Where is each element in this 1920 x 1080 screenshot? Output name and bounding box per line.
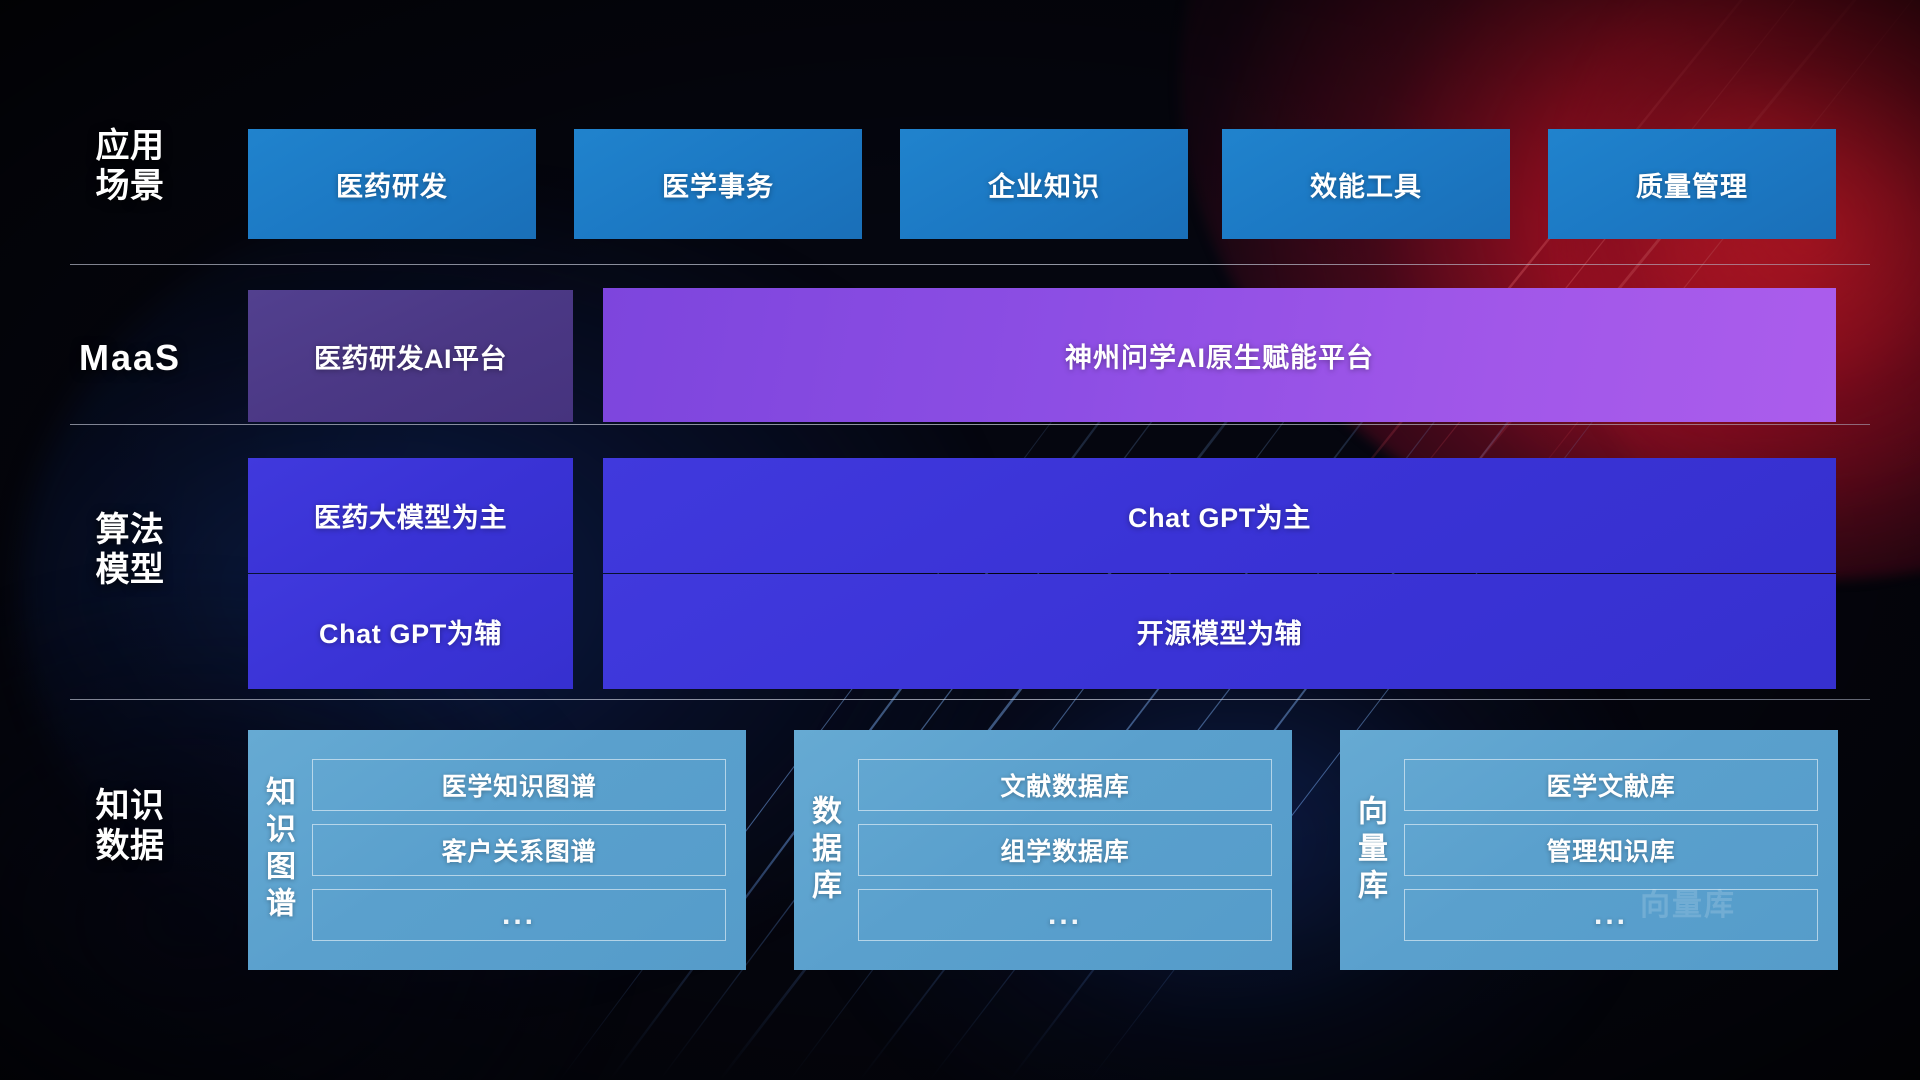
divider-3 (70, 699, 1870, 700)
knowledge-group-2-label: 向量库 (1354, 795, 1384, 906)
knowledge-group-0-label: 知识图谱 (262, 776, 292, 924)
knowledge-item[interactable]: 医学文献库 (1404, 759, 1818, 811)
knowledge-item-more[interactable]: ... (858, 889, 1272, 941)
app-card-4[interactable]: 质量管理 (1548, 129, 1836, 239)
knowledge-group-1-label: 数据库 (808, 795, 838, 906)
knowledge-group-1: 数据库 文献数据库 组学数据库 ... (794, 730, 1292, 970)
maas-card-left[interactable]: 医药研发AI平台 (248, 290, 573, 422)
algo-card-top-right[interactable]: Chat GPT为主 (603, 458, 1836, 573)
knowledge-item[interactable]: 医学知识图谱 (312, 759, 726, 811)
maas-card-right[interactable]: 神州问学AI原生赋能平台 (603, 288, 1836, 422)
knowledge-item-more[interactable]: ... (1404, 889, 1818, 941)
knowledge-item[interactable]: 文献数据库 (858, 759, 1272, 811)
knowledge-group-2-items: 医学文献库 管理知识库 ... (1404, 759, 1818, 941)
knowledge-item[interactable]: 客户关系图谱 (312, 824, 726, 876)
knowledge-item[interactable]: 组学数据库 (858, 824, 1272, 876)
divider-2 (70, 424, 1870, 425)
knowledge-item[interactable]: 管理知识库 (1404, 824, 1818, 876)
row-label-knowledge-data: 知识 数据 (70, 786, 190, 866)
knowledge-group-0: 知识图谱 医学知识图谱 客户关系图谱 ... (248, 730, 746, 970)
app-card-2[interactable]: 企业知识 (900, 129, 1188, 239)
knowledge-group-2: 向量库 医学文献库 管理知识库 ... (1340, 730, 1838, 970)
divider-1 (70, 264, 1870, 265)
algo-card-bottom-left[interactable]: Chat GPT为辅 (248, 574, 573, 689)
app-card-1[interactable]: 医学事务 (574, 129, 862, 239)
knowledge-group-1-items: 文献数据库 组学数据库 ... (858, 759, 1272, 941)
app-card-3[interactable]: 效能工具 (1222, 129, 1510, 239)
architecture-diagram: 应用 场景 医药研发 医学事务 企业知识 效能工具 质量管理 MaaS 医药研发… (0, 0, 1920, 1080)
algo-card-top-left[interactable]: 医药大模型为主 (248, 458, 573, 573)
row-label-algorithm-model: 算法 模型 (70, 510, 190, 590)
row-label-application-scenarios: 应用 场景 (70, 126, 190, 206)
algo-card-bottom-right[interactable]: 开源模型为辅 (603, 574, 1836, 689)
row-label-maas: MaaS (60, 337, 200, 379)
knowledge-group-0-items: 医学知识图谱 客户关系图谱 ... (312, 759, 726, 941)
app-card-0[interactable]: 医药研发 (248, 129, 536, 239)
knowledge-item-more[interactable]: ... (312, 889, 726, 941)
